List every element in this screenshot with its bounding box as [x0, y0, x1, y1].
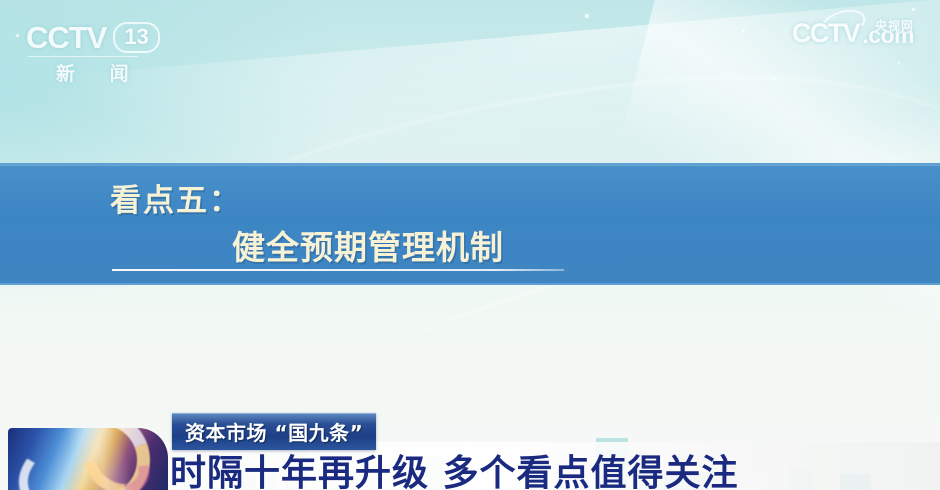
channel-bug-row: CCTV 13 — [26, 22, 196, 53]
channel-bug: CCTV 13 新 闻 — [26, 22, 196, 86]
sparkle-dot — [757, 50, 759, 52]
sparkle-dot — [898, 62, 900, 64]
swirl-logo-sheen — [8, 428, 168, 490]
sparkle-dot — [16, 34, 19, 37]
highlight-banner-underline — [112, 269, 564, 271]
broadcast-frame: CCTV 13 新 闻 央视网 CCTV .com 看点五： 健全预期管理机制 — [0, 0, 940, 490]
cctv-dot-com-watermark: 央视网 CCTV .com — [792, 20, 914, 47]
headline-text: 时隔十年再升级 多个看点值得关注 — [170, 444, 739, 490]
sparkle-dot — [585, 14, 589, 18]
channel-number-badge: 13 — [113, 22, 159, 53]
sparkle-dot — [826, 96, 828, 98]
highlight-banner-line2: 健全预期管理机制 — [232, 221, 504, 269]
lower-third-caption: 资本市场 “国九条” 时隔十年再升级 多个看点值得关注 — [0, 408, 940, 490]
sub-caption-text: 资本市场 “国九条” — [185, 421, 363, 445]
channel-name-label: 新 闻 — [26, 59, 196, 86]
highlight-banner-line1: 看点五： — [110, 175, 242, 220]
watermark-chinese-label: 央视网 — [875, 17, 914, 34]
sparkle-dot — [772, 78, 775, 81]
network-logo-text: CCTV — [26, 22, 106, 53]
sparkle-dot — [912, 8, 915, 11]
channel-bug-divider — [28, 56, 138, 57]
sparkle-dot — [742, 30, 745, 33]
highlight-banner: 看点五： 健全预期管理机制 — [0, 163, 940, 285]
program-swirl-logo — [8, 428, 168, 490]
